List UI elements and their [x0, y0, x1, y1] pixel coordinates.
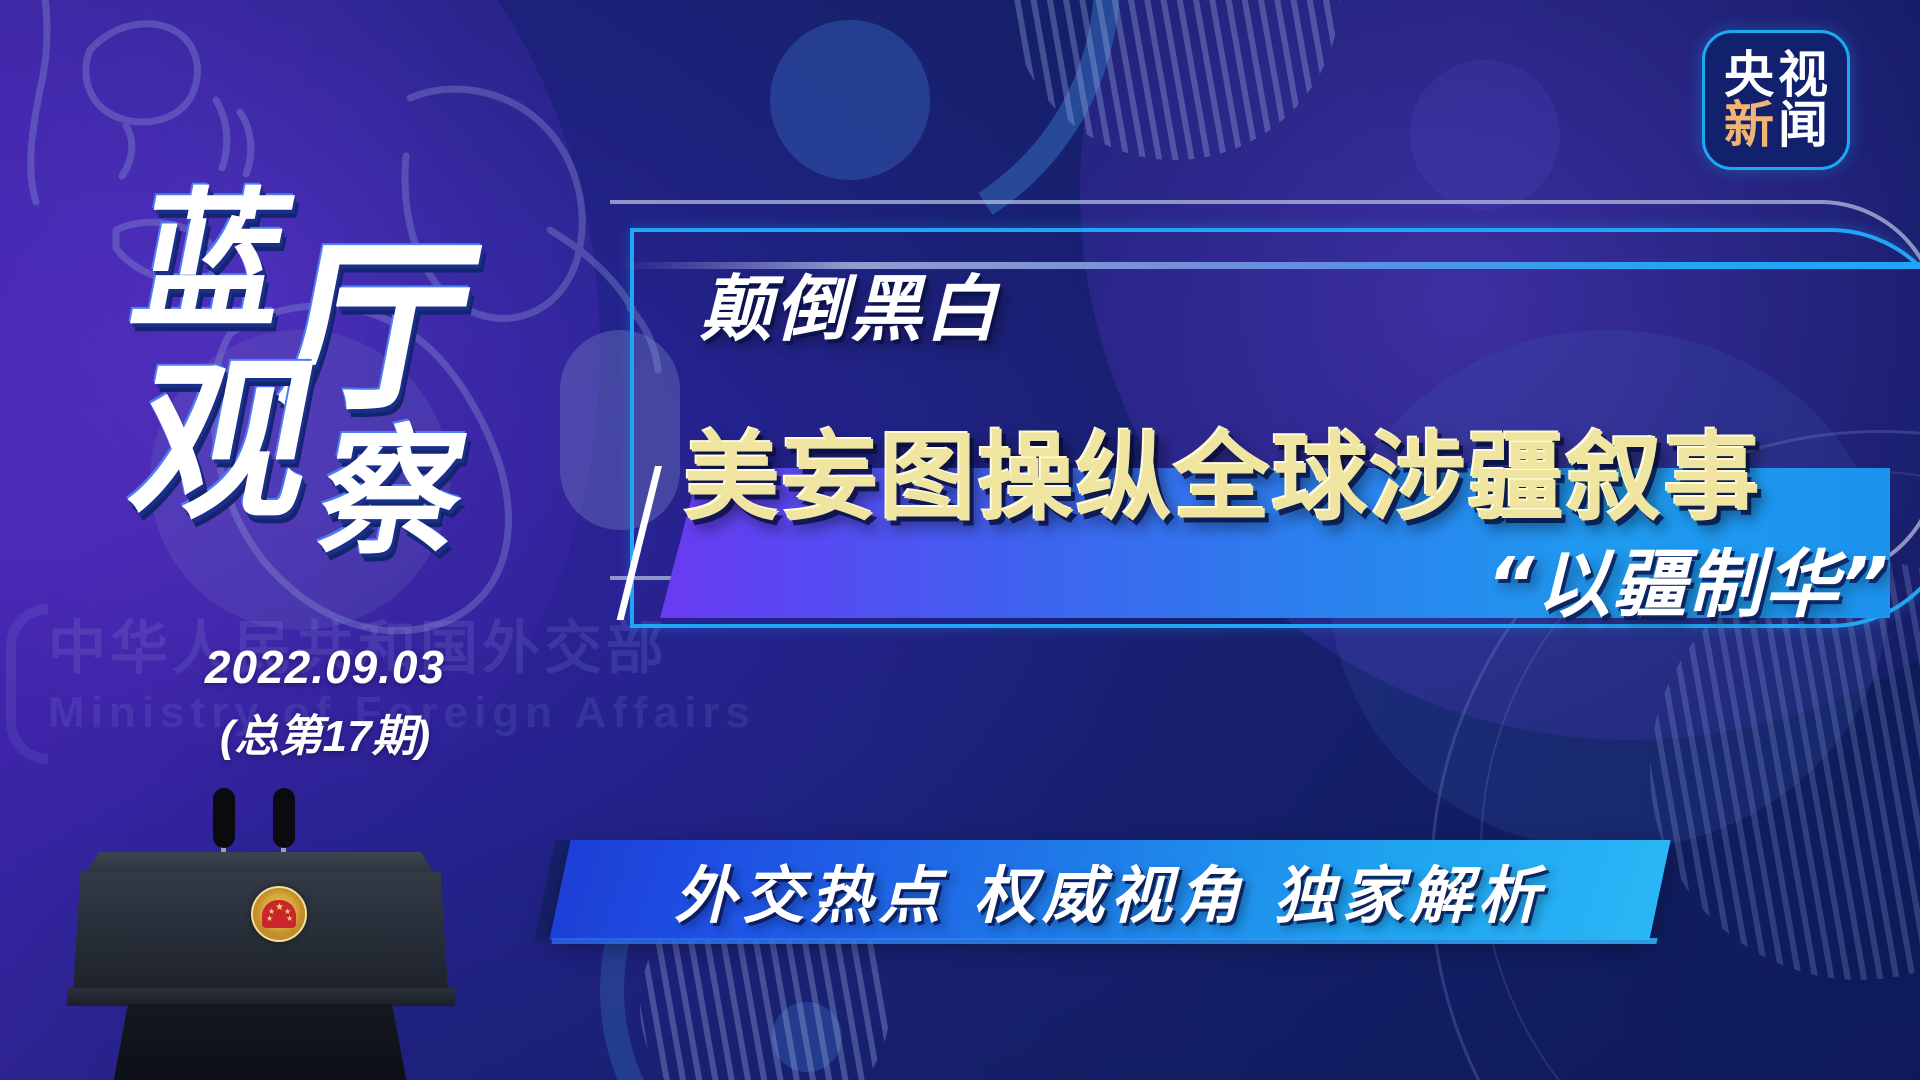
circle-dot-right: [1410, 60, 1560, 210]
broadcast-graphic-card: 中华人民共和国外交部 Ministry of Foreign Affairs 央…: [0, 0, 1920, 1080]
cctv-char-xin: 新: [1724, 100, 1774, 150]
cctv-logo-line-2: 新 闻: [1724, 100, 1828, 150]
podium-base: [110, 1004, 410, 1080]
cctv-news-logo[interactable]: 央 视 新 闻: [1702, 30, 1850, 170]
emblem-gate: ★ ★ ★ ★ ★: [262, 900, 296, 928]
headline-main: 美妄图操纵全球涉疆叙事: [684, 400, 1762, 539]
podium-top-surface: [85, 852, 435, 874]
headline-quote: “以疆制华”: [1210, 525, 1890, 632]
broadcast-date: 2022.09.03: [160, 640, 490, 694]
cctv-char-yang: 央: [1724, 50, 1774, 100]
program-logo-lanting-guancha: 蓝 厅 观 察: [140, 140, 560, 540]
cctv-logo-line-1: 央 视: [1724, 50, 1828, 100]
watermark-bracket: [6, 604, 48, 764]
tagline-text: 外交热点 权威视角 独家解析: [560, 840, 1660, 940]
press-podium: ★ ★ ★ ★ ★: [55, 790, 455, 1080]
microphone-left: [213, 788, 235, 848]
cctv-char-wen: 闻: [1778, 100, 1828, 150]
microphone-right: [273, 788, 295, 848]
headline-kicker: 颠倒黑白: [700, 250, 1000, 355]
striped-circle-top: [1010, 0, 1340, 160]
circle-dot-top: [770, 20, 930, 180]
cctv-char-shi: 视: [1778, 50, 1828, 100]
podium-lip: [67, 988, 455, 1006]
issue-number: (总第17期): [160, 700, 490, 764]
program-date-block: 2022.09.03 (总第17期): [160, 640, 490, 764]
national-emblem-icon: ★ ★ ★ ★ ★: [251, 886, 307, 942]
